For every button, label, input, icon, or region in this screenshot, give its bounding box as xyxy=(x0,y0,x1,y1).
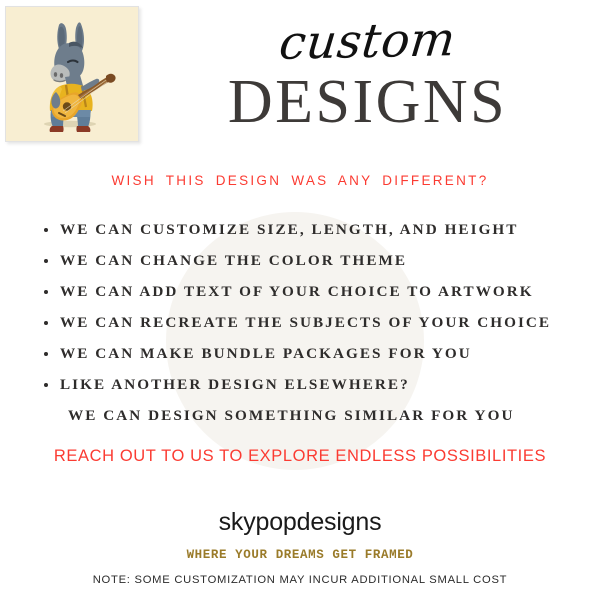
list-item: WE CAN CUSTOMIZE SIZE, LENGTH, AND HEIGH… xyxy=(42,214,592,245)
tagline-question: WISH THIS DESIGN WAS ANY DIFFERENT? xyxy=(0,173,600,188)
brand-tagline: WHERE YOUR DREAMS GET FRAMED xyxy=(0,548,600,562)
page-title-group: custom DESIGNS xyxy=(140,18,595,133)
brand-name: skypopdesigns xyxy=(0,508,600,537)
call-to-action-text: REACH OUT TO US TO EXPLORE ENDLESS POSSI… xyxy=(0,447,600,466)
list-item: LIKE ANOTHER DESIGN ELSEWHERE? xyxy=(42,369,592,400)
customization-options-list: WE CAN CUSTOMIZE SIZE, LENGTH, AND HEIGH… xyxy=(42,214,592,431)
list-item: WE CAN ADD TEXT OF YOUR CHOICE TO ARTWOR… xyxy=(42,276,592,307)
disclaimer-note: NOTE: SOME CUSTOMIZATION MAY INCUR ADDIT… xyxy=(0,574,600,586)
custom-designs-info-card: custom DESIGNS WISH THIS DESIGN WAS ANY … xyxy=(0,0,600,600)
list-item: WE CAN CHANGE THE COLOR THEME xyxy=(42,245,592,276)
page-title: DESIGNS xyxy=(140,71,595,133)
list-item: WE CAN MAKE BUNDLE PACKAGES FOR YOU xyxy=(42,338,592,369)
donkey-guitar-icon xyxy=(6,7,138,141)
script-heading-custom: custom xyxy=(137,13,598,70)
list-item: WE CAN RECREATE THE SUBJECTS OF YOUR CHO… xyxy=(42,307,592,338)
list-item-continuation: WE CAN DESIGN SOMETHING SIMILAR FOR YOU xyxy=(42,400,592,431)
product-thumbnail[interactable] xyxy=(5,6,139,142)
